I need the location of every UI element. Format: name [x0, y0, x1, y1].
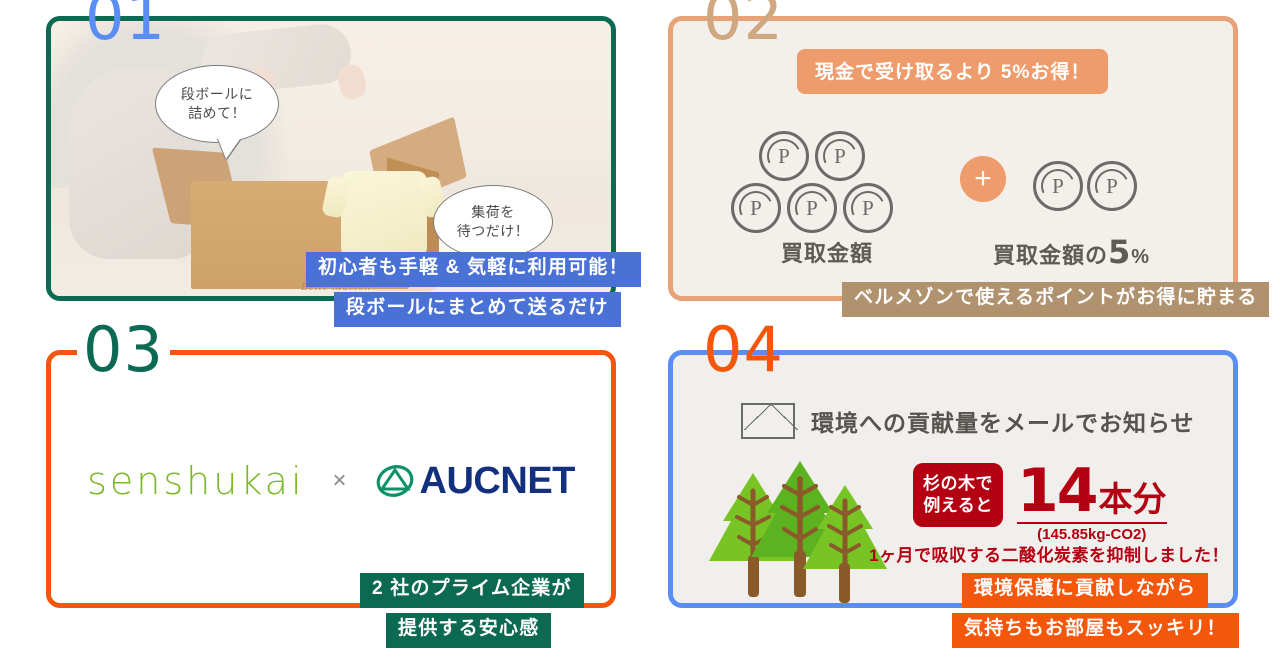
partner-logos: senshukai × AUCNET [51, 459, 611, 503]
coin-icon: P [1033, 161, 1083, 211]
plus-icon: + [960, 156, 1006, 202]
coin-icon: P [843, 183, 893, 233]
tree-count-line: 14 本分 [1017, 463, 1167, 521]
coin-icon: P [815, 131, 865, 181]
panel-02-content: 現金で受け取るより 5%お得！ P P P P P + P P 買取金額 買取金… [673, 21, 1233, 296]
panel-01-number: 01 [79, 0, 172, 49]
panel-04-tag-1: 環境保護に貢献しながら [962, 573, 1208, 608]
email-notice-header: 環境への貢献量をメールでお知らせ [741, 403, 1195, 439]
clothing-item-1 [341, 171, 427, 263]
envelope-icon [741, 403, 795, 439]
bubble-pack-box-text: 段ボールに 詰めて！ [181, 85, 254, 123]
panel-04-number: 04 [697, 319, 790, 381]
bubble-wait-pickup: 集荷を 待つだけ！ [433, 185, 553, 259]
aucnet-logo: AUCNET [375, 460, 575, 503]
label-purchase-amount: 買取金額 [781, 236, 873, 268]
tree-count-unit: 本分 [1099, 472, 1167, 521]
coin-icon: P [1087, 161, 1137, 211]
aucnet-mark-icon [375, 462, 415, 500]
tree-count-figure: 14 本分 (145.85kg-CO2) [1017, 463, 1167, 543]
coin-icon: P [759, 131, 809, 181]
panel-03: 03 senshukai × AUCNET [46, 350, 616, 608]
panel-02-tag-1: ベルメゾンで使えるポイントがお得に貯まる [842, 282, 1269, 317]
aucnet-wordmark: AUCNET [420, 460, 575, 503]
cedar-comparison-chip: 杉の木で 例えると [913, 463, 1003, 527]
panel-04-tag-2: 気持ちもお部屋もスッキリ！ [952, 613, 1239, 648]
person-hand-right [336, 63, 369, 102]
panel-03-number: 03 [77, 319, 170, 381]
panel-03-tag-2: 提供する安心感 [386, 613, 551, 648]
cash-bonus-badge: 現金で受け取るより 5%お得！ [797, 49, 1108, 94]
panel-01-tag-1: 初心者も手軽 & 気軽に利用可能！ [306, 252, 641, 287]
panel-03-content: senshukai × AUCNET [51, 355, 611, 603]
co2-note: (145.85kg-CO2) [1017, 522, 1167, 543]
panel-04-content: 環境への貢献量をメールでお知らせ [673, 355, 1233, 603]
panel-01-tag-2: 段ボールにまとめて送るだけ [334, 292, 621, 327]
panel-02: 02 現金で受け取るより 5%お得！ P P P P P + P P 買取金額 … [668, 16, 1238, 301]
label-purchase-amount-percent: 買取金額の5% [993, 233, 1150, 271]
bubble-pack-box: 段ボールに 詰めて！ [155, 65, 279, 143]
bubble-tail [218, 139, 240, 159]
feature-panels-board: 01 Belle Maison [0, 0, 1280, 670]
tree-count-number: 14 [1017, 463, 1097, 520]
panel-03-tag-1: 2 社のプライム企業が [360, 573, 584, 608]
coin-icon: P [787, 183, 837, 233]
bubble-wait-pickup-text: 集荷を 待つだけ！ [457, 203, 530, 241]
panel-02-number: 02 [697, 0, 790, 49]
panel-04: 04 環境への貢献量をメールでお知らせ [668, 350, 1238, 608]
coin-icon: P [731, 183, 781, 233]
co2-caption: 1ヶ月で吸収する二酸化炭素を抑制しました！ [869, 541, 1229, 566]
senshukai-logo: senshukai [87, 459, 304, 503]
cross-icon: × [333, 467, 347, 495]
cedar-trees-icon [705, 455, 895, 603]
co2-statistic: 杉の木で 例えると 14 本分 (145.85kg-CO2) [913, 463, 1167, 543]
